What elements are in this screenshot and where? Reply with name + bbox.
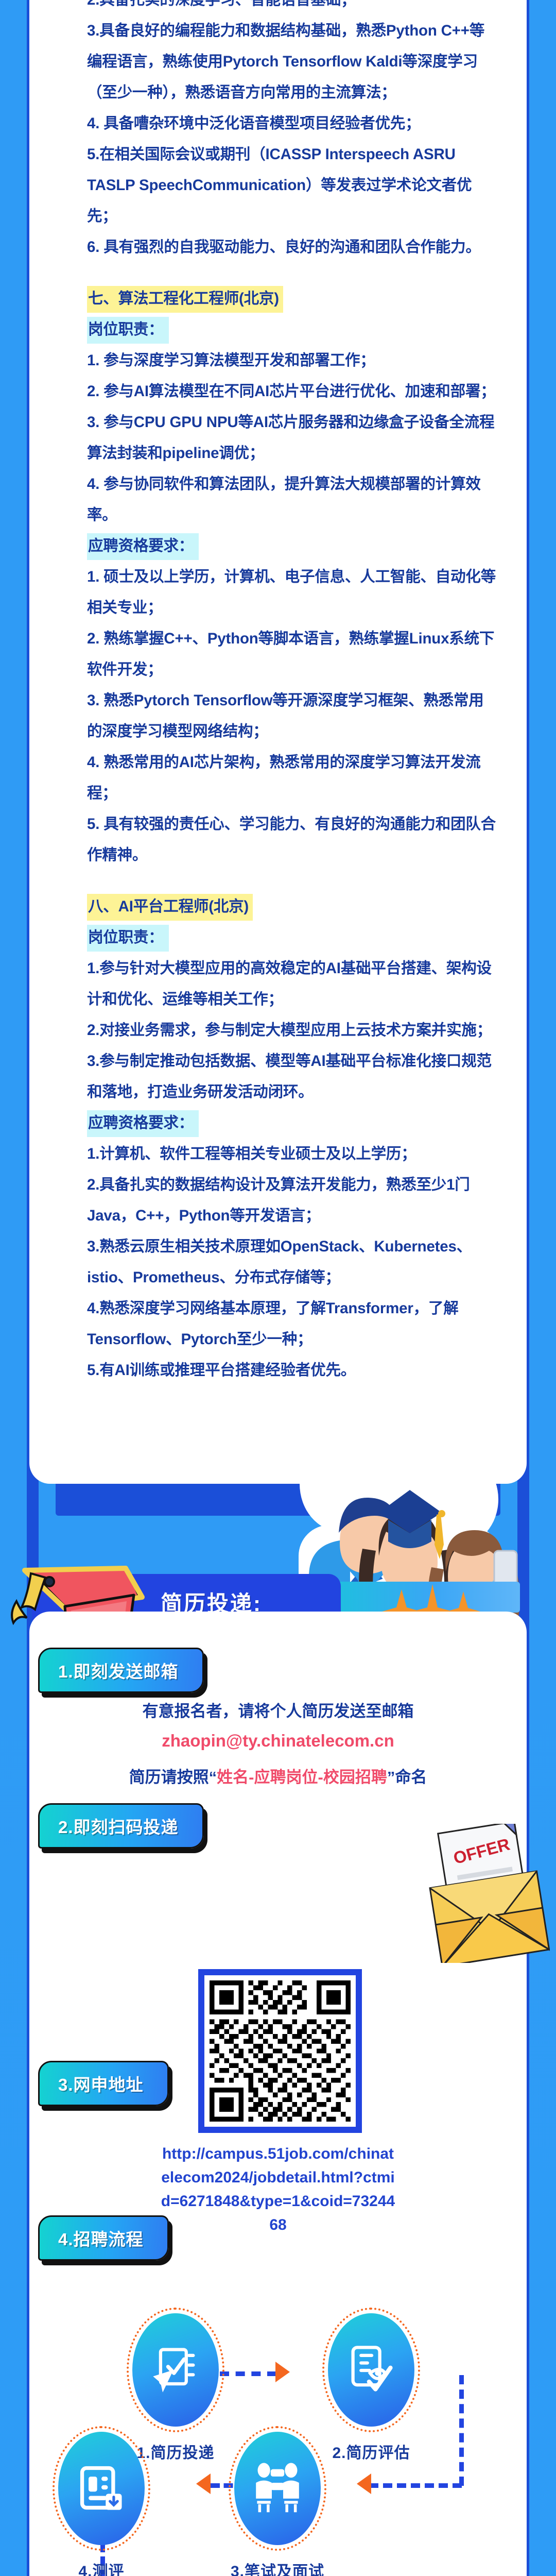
algo-duty-2: 2. 参与AI算法模型在不同AI芯片平台进行优化、加速和部署； — [87, 376, 496, 407]
step-pill-website[interactable]: 3.网申地址 — [38, 2061, 169, 2106]
job-title-algo-engineering: 七、算法工程化工程师(北京) — [87, 283, 496, 314]
algo-duties-label-text: 岗位职责： — [87, 317, 169, 344]
algo-duties-label: 岗位职责： — [87, 314, 496, 345]
aiplat-duty-2: 2.对接业务需求，参与制定大模型应用上云技术方案并实施； — [87, 1015, 496, 1046]
flow-node-interview: 3.笔试及面试 — [234, 2432, 321, 2545]
speech-req-2: 2.具备扎实的深度学习、智能语音基础； — [87, 0, 496, 15]
flow-connector-2-3-vertical — [459, 2375, 464, 2486]
aiplat-duty-1: 1.参与针对大模型应用的高效稳定的AI基础平台搭建、架构设计和优化、运维等相关工… — [87, 953, 496, 1015]
flow-node-4-bubble — [58, 2432, 145, 2545]
recruitment-process-flow: 1.简历投递 2.简历评估 — [29, 2303, 527, 2576]
aiplat-req-3: 3.熟悉云原生相关技术原理如OpenStack、Kubernetes、istio… — [87, 1231, 496, 1293]
job-title-ai-platform: 八、AI平台工程师(北京) — [87, 891, 496, 922]
aiplat-req-5: 5.有AI训练或推理平台搭建经验者优先。 — [87, 1355, 496, 1386]
job-description-card: 2.具备扎实的深度学习、智能语音基础； 3.具备良好的编程能力和数据结构基础，熟… — [29, 0, 527, 1484]
qr-code[interactable] — [198, 1969, 362, 2133]
top-card-shadow — [56, 1484, 500, 1516]
aiplat-duty-3: 3.参与制定推动包括数据、模型等AI基础平台标准化接口规范和落地，打造业务研发活… — [87, 1046, 496, 1108]
speech-req-4: 4. 具备嘈杂环境中泛化语音模型项目经验者优先； — [87, 108, 496, 139]
recruitment-poster: 2.具备扎实的深度学习、智能语音基础； 3.具备良好的编程能力和数据结构基础，熟… — [0, 0, 556, 2576]
algo-duty-1: 1. 参与深度学习算法模型开发和部署工作； — [87, 345, 496, 376]
algo-req-1: 1. 硕士及以上学历，计算机、电子信息、人工智能、自动化等相关专业； — [87, 562, 496, 623]
flow-arrow-2-3 — [357, 2473, 371, 2494]
flow-arrow-3-4 — [196, 2473, 211, 2494]
naming-rule-suffix: ”命名 — [387, 1768, 427, 1786]
aiplat-req-4: 4.熟悉深度学习网络基本原理，了解Transformer，了解Tensorflo… — [87, 1293, 496, 1355]
algo-req-3: 3. 熟悉Pytorch Tensorflow等开源深度学习框架、熟悉常用的深度… — [87, 685, 496, 747]
flow-node-2-bubble — [328, 2313, 414, 2427]
flow-connector-2-3-horizontal — [369, 2483, 462, 2488]
step-pill-qrcode[interactable]: 2.即刻扫码投递 — [38, 1803, 204, 1849]
algo-requirements-label: 应聘资格要求： — [87, 531, 496, 562]
job-title-ai-platform-text: 八、AI平台工程师(北京) — [87, 894, 253, 921]
algo-duty-4: 4. 参与协同软件和算法团队，提升算法大规模部署的计算效率。 — [87, 469, 496, 531]
resume-review-icon — [344, 2343, 398, 2397]
step-pill-process[interactable]: 4.招聘流程 — [38, 2215, 169, 2261]
naming-rule-pattern: 姓名-应聘岗位-校园招聘 — [217, 1768, 387, 1786]
step-pill-email-label: 1.即刻发送邮箱 — [58, 1658, 179, 1683]
step-pill-qrcode-label: 2.即刻扫码投递 — [58, 1814, 179, 1838]
flow-label-2: 2.简历评估 — [304, 2440, 438, 2463]
flow-arrow-1-2 — [275, 2362, 290, 2382]
flow-node-assessment: 4.测评 — [58, 2432, 145, 2545]
flow-label-4: 4.测评 — [34, 2558, 168, 2576]
qr-code-image — [210, 1980, 351, 2122]
job-title-algo-engineering-text: 七、算法工程化工程师(北京) — [87, 286, 283, 313]
aiplat-duties-label-text: 岗位职责： — [87, 925, 169, 952]
aiplat-requirements-label-text: 应聘资格要求： — [87, 1110, 199, 1137]
email-address[interactable]: zhaopin@ty.chinatelecom.cn — [29, 1731, 527, 1751]
resume-send-icon — [149, 2343, 202, 2397]
flow-node-3-bubble — [234, 2432, 321, 2545]
aiplat-req-1: 1.计算机、软件工程等相关专业硕士及以上学历； — [87, 1139, 496, 1170]
speech-req-3: 3.具备良好的编程能力和数据结构基础，熟悉Python C++等编程语言，熟练使… — [87, 15, 496, 108]
flow-label-3: 3.笔试及面试 — [211, 2558, 344, 2576]
aiplat-duties-label: 岗位职责： — [87, 922, 496, 953]
interview-icon — [249, 2460, 306, 2517]
aiplat-req-2: 2.具备扎实的数据结构设计及算法开发能力，熟悉至少1门Java，C++，Pyth… — [87, 1170, 496, 1231]
step-pill-email[interactable]: 1.即刻发送邮箱 — [38, 1648, 204, 1693]
offer-envelope-icon: OFFER — [421, 1824, 550, 1963]
job-description-text: 2.具备扎实的深度学习、智能语音基础； 3.具备良好的编程能力和数据结构基础，熟… — [87, 0, 496, 1386]
email-instruction-line: 有意报名者，请将个人简历发送至邮箱 — [29, 1698, 527, 1721]
step-pill-process-label: 4.招聘流程 — [58, 2226, 144, 2250]
speech-req-5: 5.在相关国际会议或期刊（ICASSP Interspeech ASRU TAS… — [87, 139, 496, 232]
flow-connector-1-2 — [220, 2371, 276, 2376]
flow-node-1-bubble — [132, 2313, 219, 2427]
flow-node-resume-review: 2.简历评估 — [328, 2313, 414, 2427]
algo-requirements-label-text: 应聘资格要求： — [87, 533, 199, 560]
step-pill-website-label: 3.网申地址 — [58, 2071, 144, 2096]
algo-duty-3: 3. 参与CPU GPU NPU等AI芯片服务器和边缘盒子设备全流程算法封装和p… — [87, 407, 496, 469]
speech-req-6: 6. 具有强烈的自我驱动能力、良好的沟通和团队合作能力。 — [87, 232, 496, 263]
naming-rule-prefix: 简历请按照“ — [129, 1768, 217, 1786]
email-naming-rule: 简历请按照“姓名-应聘岗位-校园招聘”命名 — [29, 1764, 527, 1787]
algo-req-5: 5. 具有较强的责任心、学习能力、有良好的沟通能力和团队合作精神。 — [87, 809, 496, 871]
assessment-icon — [75, 2462, 128, 2515]
flow-node-resume-submit: 1.简历投递 — [132, 2313, 219, 2427]
algo-req-4: 4. 熟悉常用的AI芯片架构，熟悉常用的深度学习算法开发流程； — [87, 747, 496, 809]
algo-req-2: 2. 熟练掌握C++、Python等脚本语言，熟练掌握Linux系统下软件开发； — [87, 623, 496, 685]
aiplat-requirements-label: 应聘资格要求： — [87, 1108, 496, 1139]
